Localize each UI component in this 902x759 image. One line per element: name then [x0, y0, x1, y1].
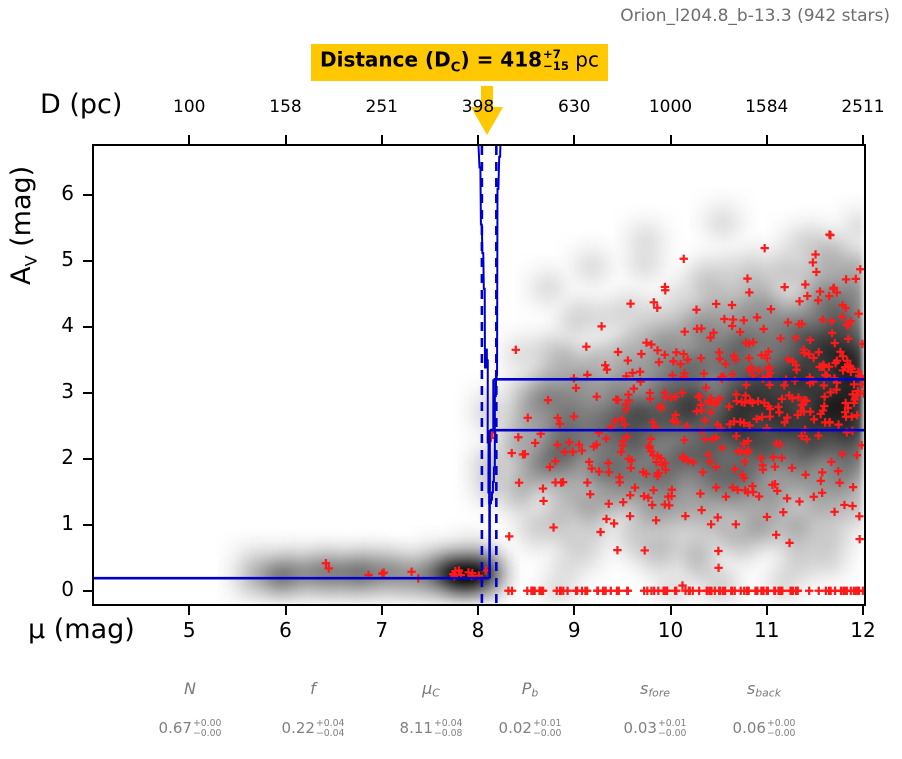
top-tick-mark-251 — [381, 135, 383, 144]
plot-overlay — [94, 146, 864, 604]
star-marker — [755, 492, 763, 500]
star-marker-floor — [805, 587, 813, 595]
star-marker — [834, 467, 842, 475]
star-marker — [776, 334, 784, 342]
star-marker — [763, 513, 771, 521]
star-marker — [820, 392, 828, 400]
star-marker — [753, 313, 761, 321]
star-marker — [853, 411, 861, 419]
star-marker — [858, 340, 864, 348]
star-marker — [646, 395, 654, 403]
star-marker — [602, 434, 610, 442]
star-marker — [795, 297, 803, 305]
figure-title: Orion_l204.8_b-13.3 (942 stars) — [620, 6, 890, 26]
top-tick-label-398: 398 — [433, 97, 523, 117]
star-marker — [766, 412, 774, 420]
star-marker — [736, 328, 744, 336]
top-axis-label: D (pc) — [40, 89, 122, 120]
top-tick-label-2511: 2511 — [818, 97, 902, 117]
star-marker — [702, 383, 710, 391]
left-axis-label-rest: (mag) — [6, 166, 37, 256]
star-marker — [605, 500, 613, 508]
stat-value-errdn-1: −0.04 — [316, 729, 345, 738]
star-marker — [757, 454, 765, 462]
stat-value-errdn-2: −0.08 — [434, 729, 463, 738]
stat-header-sub-3: b — [531, 686, 538, 699]
star-marker — [661, 500, 669, 508]
bottom-tick-label-9: 9 — [544, 618, 604, 642]
star-marker — [572, 384, 580, 392]
star-marker — [704, 450, 712, 458]
star-marker — [792, 334, 800, 342]
star-marker — [720, 315, 728, 323]
star-marker — [806, 336, 814, 344]
stat-header-3: Pb — [470, 679, 590, 699]
star-marker — [780, 283, 788, 291]
star-marker — [840, 501, 848, 509]
star-marker — [619, 498, 627, 506]
star-marker — [669, 357, 677, 365]
stat-header-name-1: f — [310, 679, 316, 698]
star-marker — [706, 457, 714, 465]
star-marker — [613, 546, 621, 554]
stat-header-sub-4: fore — [648, 686, 670, 699]
star-marker — [820, 402, 828, 410]
star-marker — [693, 325, 701, 333]
stat-value-err-1: +0.04−0.04 — [316, 719, 345, 738]
top-tick-label-1584: 1584 — [722, 97, 812, 117]
star-marker — [570, 412, 578, 420]
star-marker — [827, 458, 835, 466]
star-marker — [784, 318, 792, 326]
star-marker — [595, 467, 603, 475]
star-marker — [853, 451, 861, 459]
stat-header-0: N — [130, 679, 250, 698]
top-tick-mark-100 — [188, 135, 190, 144]
bottom-tick-mark-5 — [188, 606, 190, 615]
star-marker — [515, 478, 523, 486]
star-marker — [641, 546, 649, 554]
star-marker — [592, 392, 600, 400]
callout-unit: pc — [569, 47, 599, 71]
star-marker — [755, 366, 763, 374]
star-marker — [838, 313, 846, 321]
star-marker — [614, 348, 622, 356]
fitted-model — [94, 379, 864, 578]
stat-header-4: sfore — [595, 679, 715, 699]
star-marker — [586, 490, 594, 498]
stat-value-main-3: 0.02 — [499, 719, 532, 737]
star-marker — [661, 351, 669, 359]
star-marker — [636, 368, 644, 376]
stat-value-err-4: +0.01−0.00 — [658, 719, 687, 738]
star-marker — [692, 306, 700, 314]
star-marker — [767, 305, 775, 313]
star-marker — [771, 462, 779, 470]
stat-header-1: f — [253, 679, 373, 698]
star-marker — [849, 483, 857, 491]
left-tick-label-2: 2 — [22, 445, 74, 469]
star-marker — [820, 381, 828, 389]
stat-value-err-3: +0.01−0.00 — [533, 719, 562, 738]
star-marker — [596, 528, 604, 536]
star-marker — [740, 316, 748, 324]
star-marker — [508, 449, 516, 457]
star-marker — [610, 519, 618, 527]
star-marker — [749, 338, 757, 346]
star-marker — [745, 354, 753, 362]
top-tick-label-630: 630 — [529, 97, 619, 117]
bottom-tick-label-10: 10 — [641, 618, 701, 642]
star-marker — [553, 441, 561, 449]
star-marker — [642, 339, 650, 347]
star-marker — [814, 348, 822, 356]
star-marker — [615, 478, 623, 486]
star-marker — [617, 448, 625, 456]
stat-value-0: 0.67+0.00−0.00 — [120, 719, 260, 738]
left-tick-mark-2 — [83, 458, 92, 460]
star-marker — [693, 407, 701, 415]
stat-header-5: sback — [704, 679, 824, 699]
star-marker — [855, 512, 863, 520]
star-marker — [680, 327, 688, 335]
left-tick-label-4: 4 — [22, 313, 74, 337]
bottom-tick-label-7: 7 — [352, 618, 412, 642]
bottom-tick-mark-6 — [285, 606, 287, 615]
star-marker — [597, 322, 605, 330]
bottom-tick-mark-9 — [573, 606, 575, 615]
star-marker — [626, 512, 634, 520]
star-marker — [647, 340, 655, 348]
star-marker — [631, 483, 639, 491]
star-marker — [514, 433, 522, 441]
star-markers — [322, 230, 864, 595]
star-marker — [655, 358, 663, 366]
left-tick-label-5: 5 — [22, 247, 74, 271]
star-marker — [601, 361, 609, 369]
top-tick-label-1000: 1000 — [626, 97, 716, 117]
left-tick-mark-0 — [83, 590, 92, 592]
star-marker — [765, 381, 773, 389]
star-marker — [825, 418, 833, 426]
stat-value-err-2: +0.04−0.08 — [434, 719, 463, 738]
star-marker — [745, 288, 753, 296]
star-marker — [785, 539, 793, 547]
star-marker — [825, 292, 833, 300]
star-marker — [681, 512, 689, 520]
star-marker — [820, 362, 828, 370]
star-marker — [759, 465, 767, 473]
star-marker — [838, 450, 846, 458]
stat-header-name-2: μ — [422, 679, 432, 698]
star-marker-floor — [623, 587, 631, 595]
stat-header-sub-2: C — [432, 686, 440, 699]
star-marker — [818, 489, 826, 497]
star-marker — [810, 493, 818, 501]
star-marker — [640, 492, 648, 500]
star-marker — [760, 244, 768, 252]
bottom-tick-label-5: 5 — [159, 618, 219, 642]
left-tick-mark-3 — [83, 392, 92, 394]
star-marker — [722, 493, 730, 501]
star-marker — [603, 365, 611, 373]
star-marker — [672, 348, 680, 356]
star-marker — [649, 486, 657, 494]
star-marker — [795, 497, 803, 505]
top-tick-label-158: 158 — [241, 97, 331, 117]
bottom-tick-mark-10 — [670, 606, 672, 615]
star-marker — [801, 280, 809, 288]
star-marker — [712, 463, 720, 471]
star-marker — [759, 325, 767, 333]
star-marker — [549, 523, 557, 531]
star-marker — [754, 397, 762, 405]
star-marker — [644, 493, 652, 501]
star-marker — [769, 453, 777, 461]
left-tick-label-6: 6 — [22, 181, 74, 205]
stat-value-5: 0.06+0.00−0.00 — [694, 719, 834, 738]
star-marker — [722, 360, 730, 368]
star-marker — [828, 329, 836, 337]
star-marker — [678, 389, 686, 397]
star-marker — [626, 300, 634, 308]
star-marker — [699, 468, 707, 476]
star-marker — [844, 335, 852, 343]
star-marker — [725, 402, 733, 410]
left-tick-mark-5 — [83, 260, 92, 262]
star-marker — [707, 520, 715, 528]
stat-value-errdn-0: −0.00 — [193, 729, 222, 738]
plot-clip — [94, 146, 864, 604]
star-marker — [539, 497, 547, 505]
star-marker — [852, 275, 860, 283]
left-tick-label-0: 0 — [22, 577, 74, 601]
star-marker — [856, 265, 864, 273]
star-marker — [546, 463, 554, 471]
star-marker — [716, 355, 724, 363]
star-marker — [728, 301, 736, 309]
top-tick-mark-398 — [477, 135, 479, 144]
stat-value-main-0: 0.67 — [159, 719, 192, 737]
stat-header-sub-5: back — [755, 686, 781, 699]
star-marker — [857, 441, 864, 449]
star-marker — [732, 432, 740, 440]
star-marker — [848, 412, 856, 420]
left-tick-mark-1 — [83, 524, 92, 526]
star-marker — [505, 532, 513, 540]
star-marker — [583, 371, 591, 379]
star-marker — [701, 416, 709, 424]
star-marker — [524, 414, 532, 422]
top-tick-mark-1584 — [766, 135, 768, 144]
star-marker — [680, 255, 688, 263]
top-tick-mark-630 — [573, 135, 575, 144]
star-marker — [714, 547, 722, 555]
stat-value-main-1: 0.22 — [282, 719, 315, 737]
callout-prefix: Distance (D — [320, 47, 451, 71]
left-tick-mark-6 — [83, 194, 92, 196]
star-marker — [539, 484, 547, 492]
star-marker — [783, 494, 791, 502]
star-marker — [694, 393, 702, 401]
star-marker — [791, 376, 799, 384]
star-marker — [605, 468, 613, 476]
star-marker — [803, 292, 811, 300]
star-marker — [778, 395, 786, 403]
star-marker — [707, 408, 715, 416]
bottom-axis-label: μ (mag) — [28, 614, 135, 645]
callout-err-dn: −15 — [543, 61, 569, 73]
star-marker — [652, 516, 660, 524]
star-marker — [792, 366, 800, 374]
star-marker — [624, 356, 632, 364]
star-marker-floor — [593, 587, 601, 595]
star-marker-floor — [744, 587, 752, 595]
star-marker — [569, 448, 577, 456]
bottom-tick-label-8: 8 — [448, 618, 508, 642]
stat-value-main-5: 0.06 — [733, 719, 766, 737]
star-marker — [583, 478, 591, 486]
star-marker — [830, 508, 838, 516]
star-marker — [731, 465, 739, 473]
callout-mid: ) = 418 — [460, 47, 542, 71]
stat-value-err-5: +0.00−0.00 — [767, 719, 796, 738]
star-marker — [806, 407, 814, 415]
bottom-tick-mark-7 — [381, 606, 383, 615]
bottom-tick-mark-11 — [766, 606, 768, 615]
bottom-tick-mark-12 — [862, 606, 864, 615]
left-tick-label-1: 1 — [22, 511, 74, 535]
star-marker — [653, 346, 661, 354]
star-marker — [551, 478, 559, 486]
star-marker — [604, 459, 612, 467]
star-marker — [407, 568, 415, 576]
star-marker — [817, 477, 825, 485]
star-marker — [855, 535, 863, 543]
stat-value-err-0: +0.00−0.00 — [193, 719, 222, 738]
star-marker — [814, 296, 822, 304]
callout-errors: +7−15 — [543, 49, 569, 73]
star-marker — [627, 464, 635, 472]
star-marker — [835, 479, 843, 487]
star-marker — [624, 390, 632, 398]
star-marker — [810, 415, 818, 423]
stat-value-3: 0.02+0.01−0.00 — [460, 719, 600, 738]
star-marker — [741, 457, 749, 465]
star-marker — [854, 310, 862, 318]
star-marker — [676, 360, 684, 368]
bottom-tick-label-12: 12 — [833, 618, 893, 642]
star-marker — [619, 437, 627, 445]
star-marker — [565, 438, 573, 446]
top-tick-mark-158 — [285, 135, 287, 144]
star-marker — [728, 322, 736, 330]
top-tick-label-100: 100 — [144, 97, 234, 117]
star-marker — [623, 433, 631, 441]
star-marker — [648, 501, 656, 509]
star-marker — [828, 317, 836, 325]
star-marker — [512, 346, 520, 354]
star-marker — [825, 230, 833, 238]
bottom-tick-label-6: 6 — [256, 618, 316, 642]
star-marker — [683, 355, 691, 363]
star-marker-floor — [841, 587, 849, 595]
star-marker — [714, 513, 722, 521]
star-marker — [743, 274, 751, 282]
left-tick-mark-4 — [83, 326, 92, 328]
star-marker — [801, 471, 809, 479]
star-marker — [814, 431, 822, 439]
star-marker — [660, 388, 668, 396]
star-marker — [531, 439, 539, 447]
star-marker — [697, 354, 705, 362]
star-marker — [630, 384, 638, 392]
star-marker — [811, 250, 819, 258]
star-marker — [842, 275, 850, 283]
star-marker — [712, 483, 720, 491]
star-marker — [834, 420, 842, 428]
top-tick-label-251: 251 — [337, 97, 427, 117]
star-marker — [775, 408, 783, 416]
stat-header-name-3: P — [522, 679, 532, 698]
star-marker — [809, 258, 817, 266]
star-marker — [831, 339, 839, 347]
star-marker — [696, 489, 704, 497]
top-tick-mark-2511 — [862, 135, 864, 144]
star-marker-floor — [572, 587, 580, 595]
star-marker — [582, 343, 590, 351]
star-marker — [732, 520, 740, 528]
star-marker — [778, 454, 786, 462]
star-marker — [780, 381, 788, 389]
star-marker — [602, 515, 610, 523]
star-marker — [689, 458, 697, 466]
star-marker — [560, 448, 568, 456]
star-marker — [551, 457, 559, 465]
star-marker — [680, 436, 688, 444]
star-marker — [671, 393, 679, 401]
left-tick-label-3: 3 — [22, 379, 74, 403]
star-marker — [700, 370, 708, 378]
star-marker — [637, 350, 645, 358]
star-marker-floor — [672, 587, 680, 595]
bottom-tick-label-11: 11 — [737, 618, 797, 642]
distance-callout: Distance (DC) = 418+7−15 pc — [311, 44, 608, 81]
star-marker — [673, 418, 681, 426]
star-marker — [697, 506, 705, 514]
stat-value-errdn-3: −0.00 — [533, 729, 562, 738]
star-marker — [779, 508, 787, 516]
stat-header-name-5: s — [747, 679, 755, 698]
figure-root: Orion_l204.8_b-13.3 (942 stars) Distance… — [0, 0, 902, 759]
stat-header-name-0: N — [184, 679, 196, 698]
star-marker — [544, 396, 552, 404]
star-marker — [816, 287, 824, 295]
star-marker — [614, 396, 622, 404]
top-tick-mark-1000 — [670, 135, 672, 144]
star-marker — [626, 491, 634, 499]
star-marker — [818, 468, 826, 476]
star-marker — [718, 444, 726, 452]
star-marker — [732, 390, 740, 398]
star-marker — [714, 564, 722, 572]
plot-area — [92, 144, 866, 606]
star-marker — [697, 401, 705, 409]
stat-value-main-2: 8.11 — [400, 719, 433, 737]
star-marker — [819, 315, 827, 323]
stat-value-errdn-5: −0.00 — [767, 729, 796, 738]
star-marker — [378, 570, 386, 578]
